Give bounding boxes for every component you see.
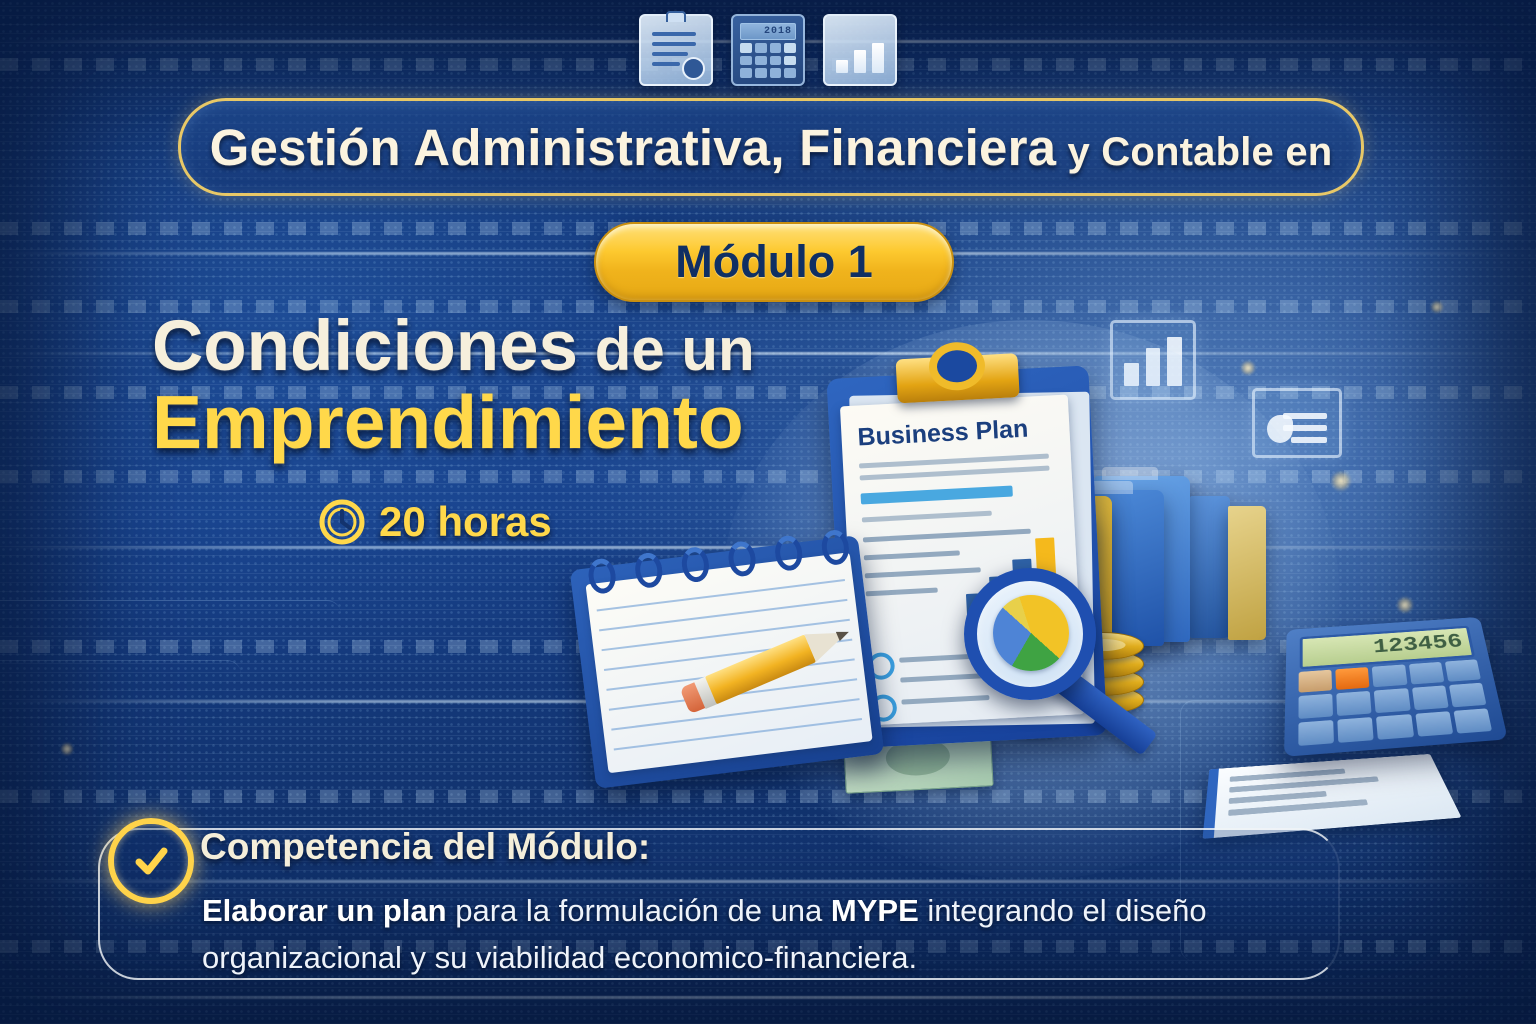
calculator-keypad <box>740 43 796 78</box>
module-number-badge: Módulo 1 <box>594 222 954 302</box>
duration-value: 20 horas <box>379 498 552 546</box>
magnifier-lens <box>964 568 1096 700</box>
page-title: Gestión Administrativa, Financiera y Con… <box>210 118 1333 177</box>
report-sheet <box>1203 754 1462 839</box>
course-title-pill: Gestión Administrativa, Financiera y Con… <box>178 98 1364 196</box>
desk-calculator: 123456 <box>1284 617 1508 757</box>
checkmark-glyph <box>129 839 173 883</box>
page-title-main: Gestión Administrativa, Financiera <box>210 119 1057 176</box>
book <box>1228 506 1266 640</box>
magnifier-glyph <box>682 57 705 80</box>
module-headline: Condiciones de un Emprendimiento <box>152 312 912 461</box>
background-light-streak <box>0 996 1536 999</box>
competency-body-mid: para la formulación de una <box>447 893 831 928</box>
clipboard-search-icon <box>639 14 713 86</box>
pie-chart <box>993 595 1069 671</box>
magnifying-glass <box>964 568 1096 700</box>
calculator-icon: 2018 <box>731 14 805 86</box>
background-sparkle <box>60 742 74 756</box>
clipboard-clip-shape <box>666 11 686 22</box>
competency-body-strong: MYPE <box>831 893 919 928</box>
book <box>1190 496 1230 638</box>
duration-row: 20 horas <box>318 498 552 546</box>
headline-rest: de un <box>578 316 755 383</box>
top-icon-strip: 2018 <box>639 14 897 86</box>
spiral-notepad <box>570 535 885 789</box>
check-circle-icon <box>108 818 194 904</box>
page-title-tail: y Contable en <box>1056 130 1332 174</box>
headline-strong: Condiciones <box>152 307 578 386</box>
competency-body-lead: Elaborar un plan <box>202 893 447 928</box>
competency-body: Elaborar un plan para la formulación de … <box>202 887 1292 981</box>
module-badge-label: Módulo 1 <box>675 236 872 288</box>
headline-line-2: Emprendimiento <box>152 384 912 461</box>
headline-line-1: Condiciones de un <box>152 312 912 382</box>
clock-icon <box>318 498 366 546</box>
course-module-banner: 2018 Gestión Administrativa, Financiera … <box>0 0 1536 1024</box>
calculator-keys <box>1298 659 1492 746</box>
bar-chart-icon <box>823 14 897 86</box>
calculator-display: 2018 <box>740 23 796 40</box>
competency-title: Competencia del Módulo: <box>200 826 650 868</box>
bar-chart-bars <box>835 35 885 73</box>
